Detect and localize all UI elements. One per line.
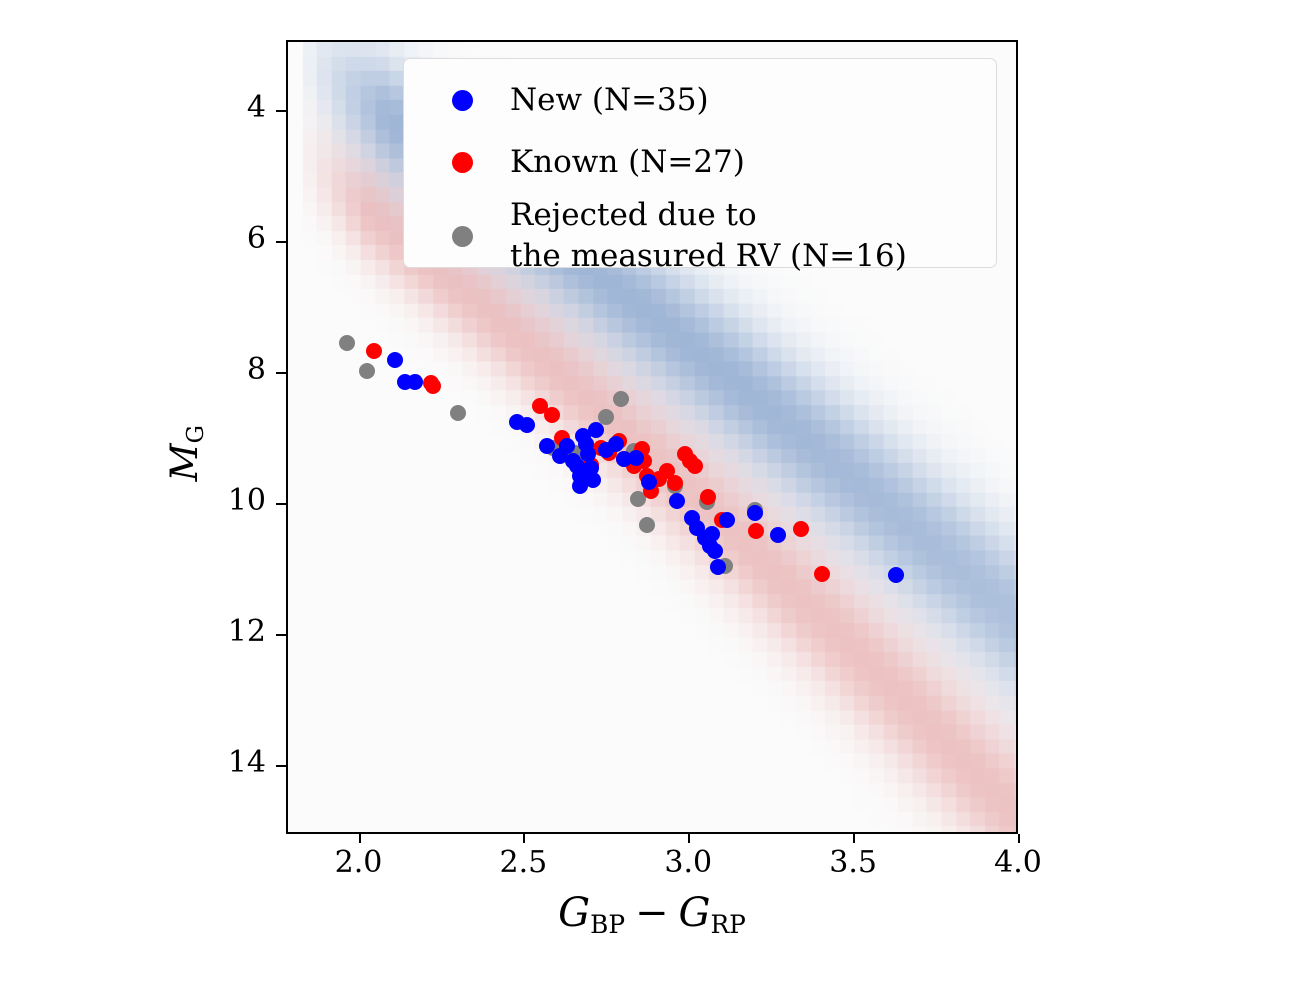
legend-label-known: Known (N=27) [510,142,745,183]
scatter-point-new [770,527,786,543]
scatter-point-new [628,450,644,466]
x-axis-title-g-bp: G [558,890,590,936]
y-tick-mark [276,241,286,243]
y-tick-label: 14 [206,748,266,778]
y-tick-label: 4 [206,93,266,123]
y-tick-mark [276,372,286,374]
y-tick-mark [276,634,286,636]
scatter-point-rejected [613,391,629,407]
scatter-point-new [747,505,763,521]
x-axis-title-g-rp: G [679,890,711,936]
scatter-point-rejected [359,363,375,379]
y-axis-title-main: M [163,443,206,481]
circle-marker-icon [452,90,473,111]
scatter-point-new [585,472,601,488]
scatter-point-new [669,493,685,509]
legend-item-new[interactable]: New (N=35) [414,69,982,131]
y-tick-mark [276,765,286,767]
legend-label-rejected: Rejected due to the measured RV (N=16) [510,195,907,277]
x-tick-mark [1018,834,1020,843]
legend-marker-known [414,152,510,173]
y-axis-title: MG [163,383,209,523]
scatter-point-known [544,407,560,423]
x-tick-label: 3.0 [643,848,733,878]
y-tick-mark [276,503,286,505]
scatter-point-new [519,417,535,433]
scatter-point-known [793,521,809,537]
scatter-point-new [407,374,423,390]
scatter-point-rejected [339,335,355,351]
scatter-point-new [559,438,575,454]
x-tick-mark [853,834,855,843]
circle-marker-icon [452,152,473,173]
legend-box[interactable]: New (N=35) Known (N=27) Rejected due to … [403,58,997,268]
scatter-point-known [366,343,382,359]
x-tick-mark [523,834,525,843]
scatter-point-new [608,436,624,452]
x-tick-label: 2.0 [314,848,404,878]
y-tick-label: 12 [206,617,266,647]
scatter-point-new [588,422,604,438]
x-axis-title-bp: BP [590,910,625,939]
legend-label-new: New (N=35) [510,80,709,121]
x-tick-mark [359,834,361,843]
scatter-point-rejected [639,517,655,533]
scatter-point-new [387,352,403,368]
y-tick-label: 6 [206,224,266,254]
y-tick-mark [276,110,286,112]
scatter-point-new [707,543,723,559]
legend-item-rejected[interactable]: Rejected due to the measured RV (N=16) [414,193,982,279]
y-tick-label: 10 [206,486,266,516]
scatter-point-rejected [450,405,466,421]
y-tick-label: 8 [206,355,266,385]
x-tick-mark [688,834,690,843]
legend-marker-new [414,90,510,111]
scatter-point-new [704,526,720,542]
legend-marker-rejected [414,226,510,247]
x-tick-label: 3.5 [808,848,898,878]
x-tick-label: 4.0 [973,848,1063,878]
scatter-point-known [814,566,830,582]
scatter-point-new [719,512,735,528]
scatter-point-known [748,523,764,539]
circle-marker-icon [452,226,473,247]
figure-canvas: New (N=35) Known (N=27) Rejected due to … [0,0,1300,1000]
x-tick-label: 2.5 [478,848,568,878]
x-axis-title-minus: − [625,890,679,936]
legend-item-known[interactable]: Known (N=27) [414,131,982,193]
scatter-point-known [687,458,703,474]
scatter-point-known [425,378,441,394]
x-axis-title: GBP−GRP [286,890,1018,939]
scatter-point-rejected [598,409,614,425]
y-axis-title-sub: G [183,425,209,443]
x-axis-title-rp: RP [710,910,745,939]
scatter-point-new [888,567,904,583]
